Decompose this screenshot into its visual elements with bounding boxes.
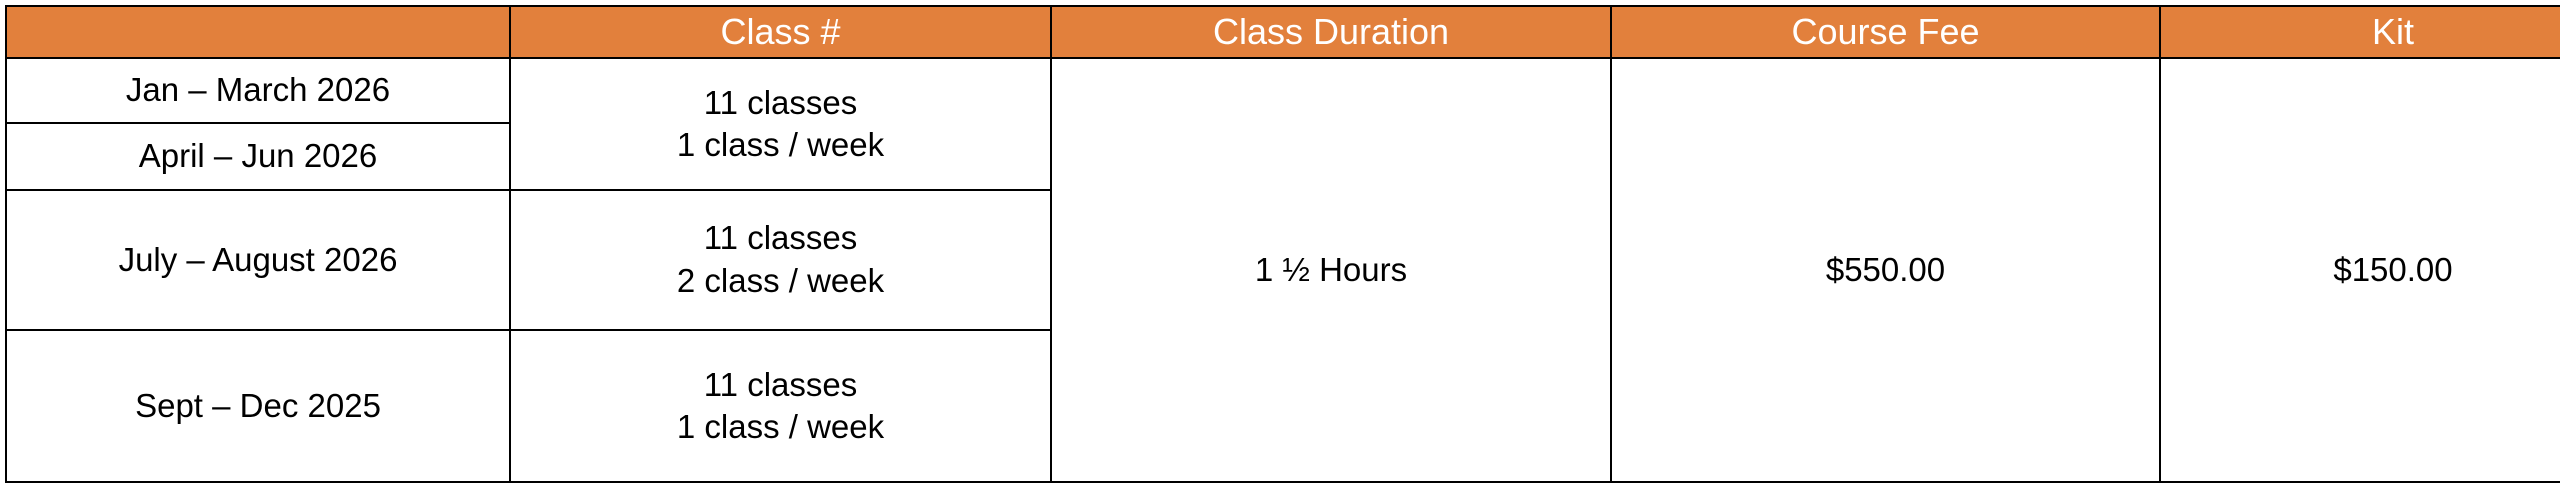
cell-class-number-group-3: 11 classes 1 class / week: [510, 330, 1051, 482]
cell-term-sept-dec-2025: Sept – Dec 2025: [6, 330, 510, 482]
column-header-term: [6, 6, 510, 58]
cell-course-fee: $550.00: [1611, 58, 2160, 482]
cell-term-april-jun-2026: April – Jun 2026: [6, 123, 510, 190]
cell-term-jan-march-2026: Jan – March 2026: [6, 58, 510, 123]
cell-class-number-group-2: 11 classes 2 class / week: [510, 190, 1051, 330]
cell-kit-fee: $150.00: [2160, 58, 2560, 482]
column-header-class-number: Class #: [510, 6, 1051, 58]
schedule-sheet: Class # Class Duration Course Fee Kit Ja…: [0, 0, 2560, 488]
cell-term-july-august-2026: July – August 2026: [6, 190, 510, 330]
table-header: Class # Class Duration Course Fee Kit: [6, 6, 2560, 58]
cell-class-duration: 1 ½ Hours: [1051, 58, 1611, 482]
cell-class-number-group-1: 11 classes 1 class / week: [510, 58, 1051, 190]
column-header-course-fee: Course Fee: [1611, 6, 2160, 58]
table-body: Jan – March 2026 11 classes 1 class / we…: [6, 58, 2560, 482]
table-row: Jan – March 2026 11 classes 1 class / we…: [6, 58, 2560, 123]
column-header-class-duration: Class Duration: [1051, 6, 1611, 58]
column-header-kit: Kit: [2160, 6, 2560, 58]
class-schedule-table: Class # Class Duration Course Fee Kit Ja…: [5, 5, 2560, 483]
header-row: Class # Class Duration Course Fee Kit: [6, 6, 2560, 58]
